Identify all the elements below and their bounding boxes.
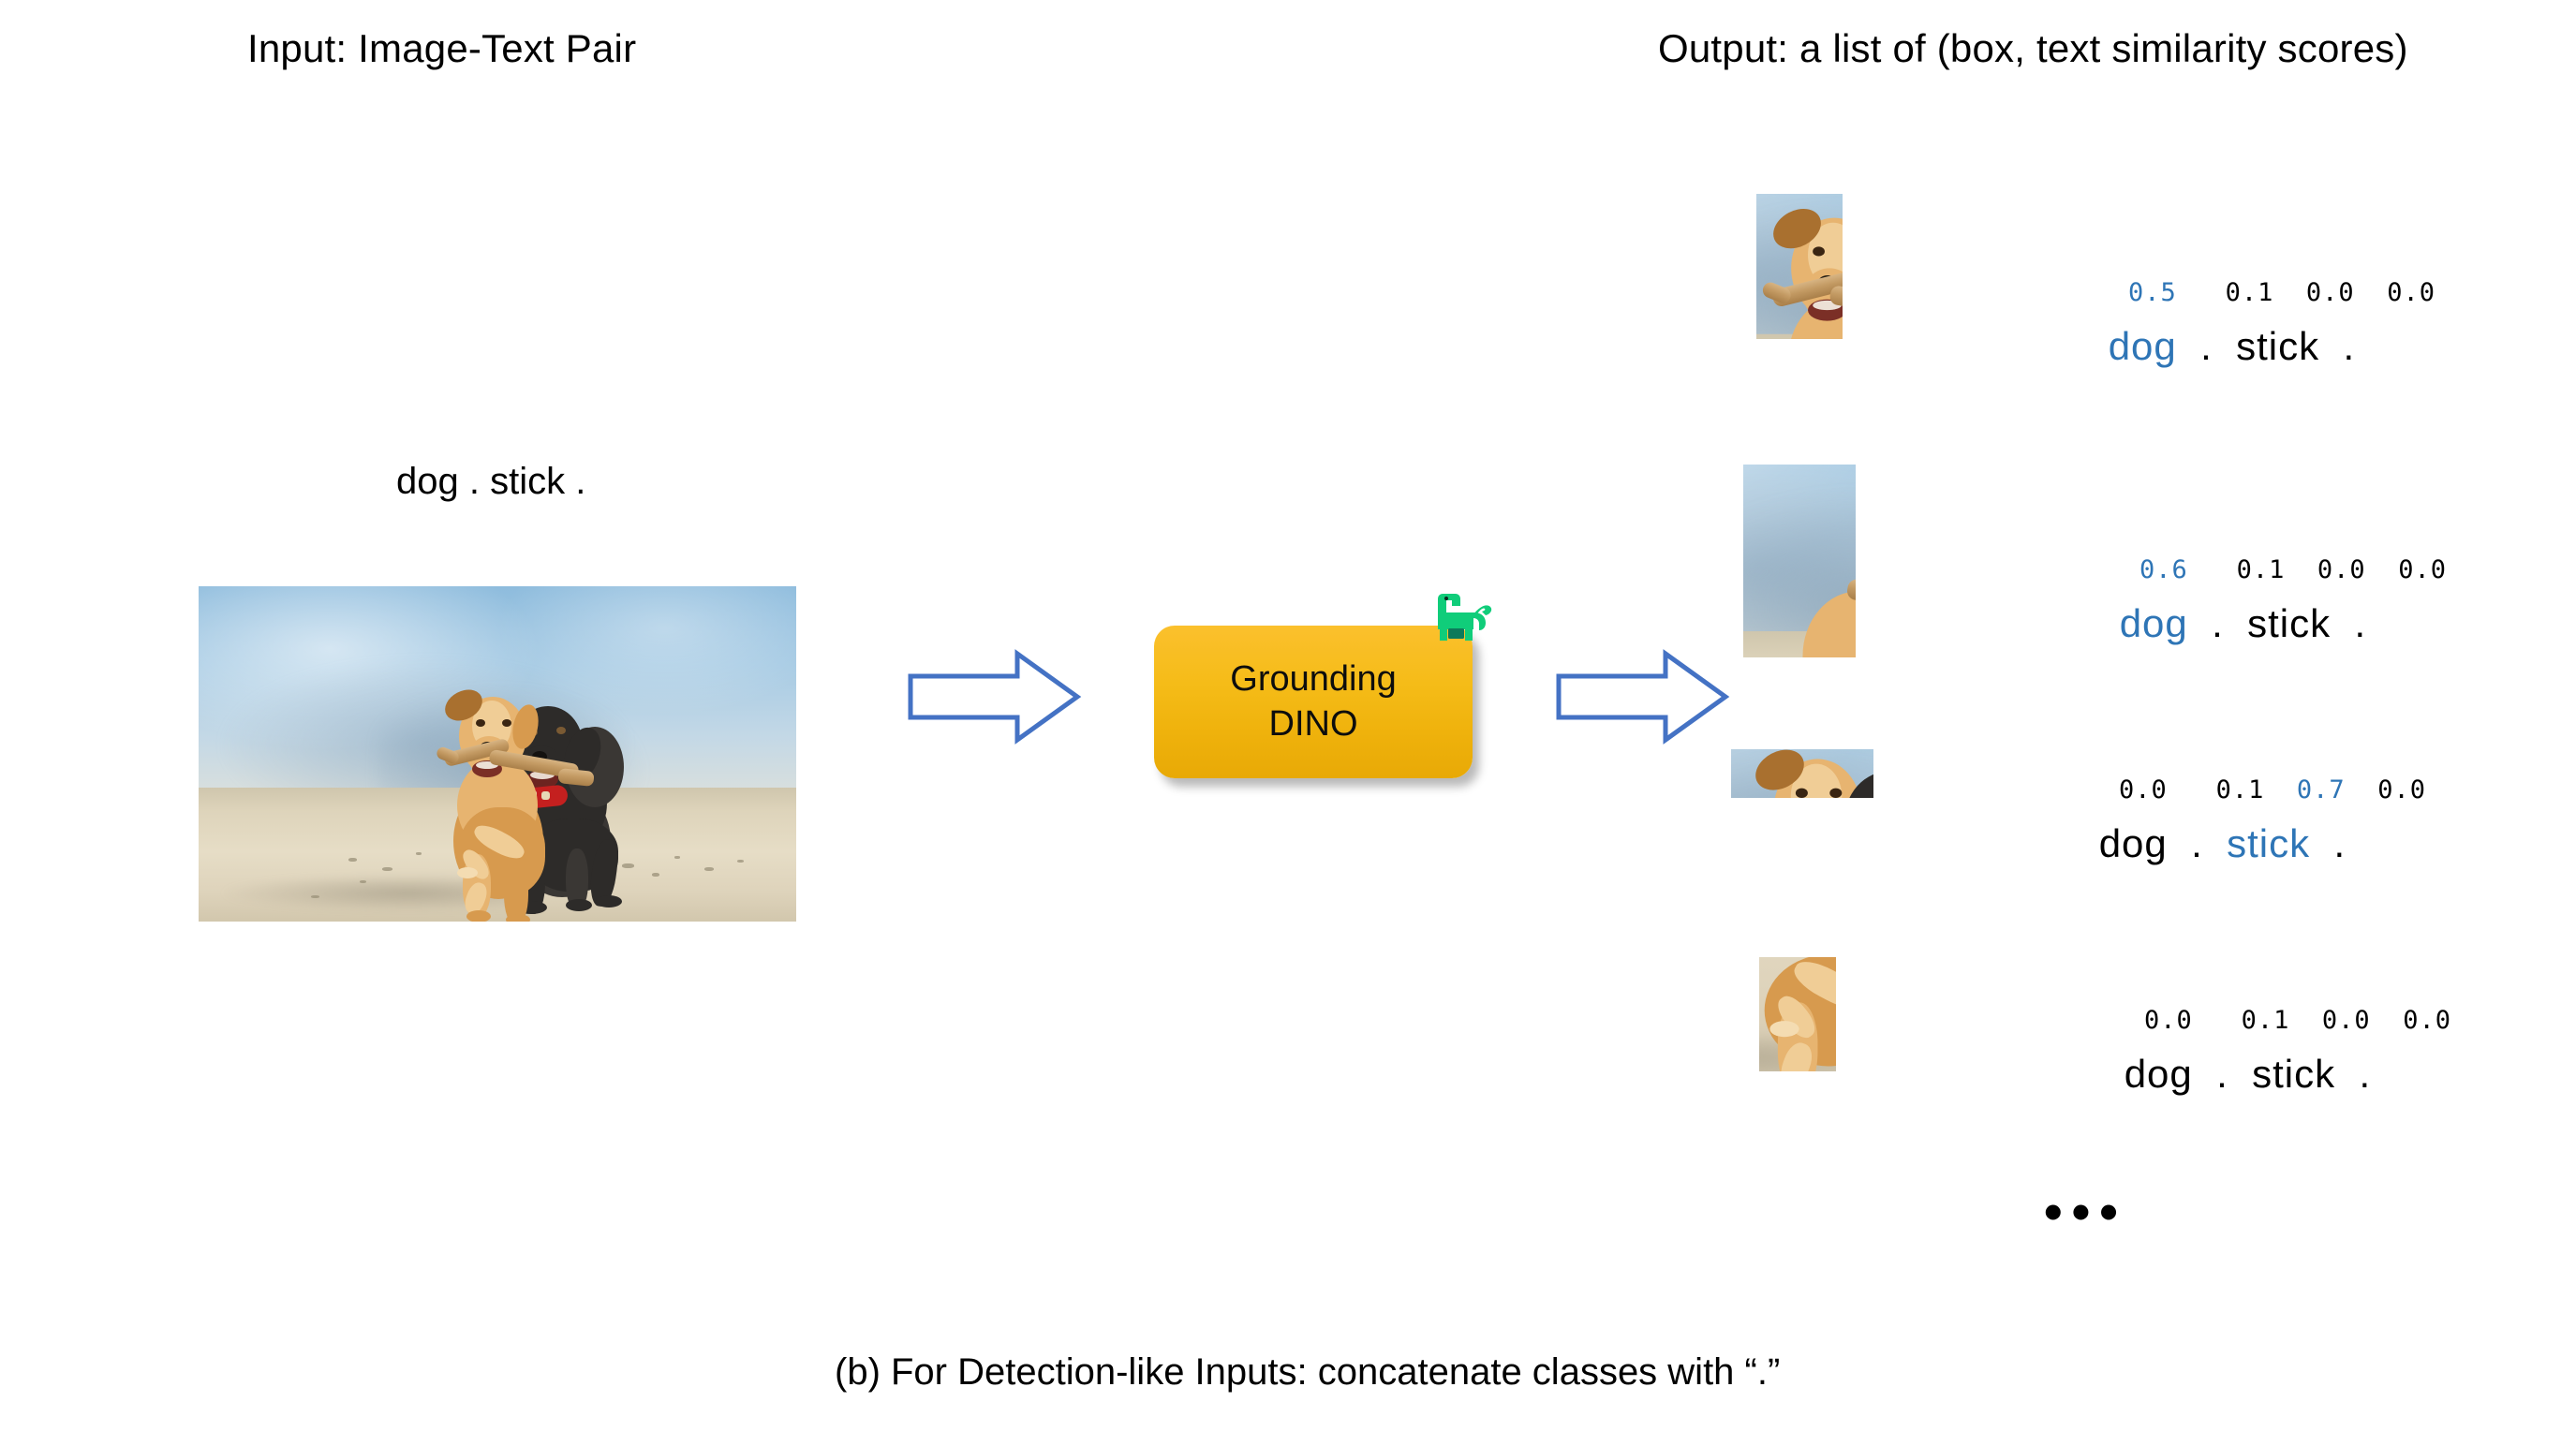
token-text: . bbox=[2354, 601, 2366, 645]
token-text: dog bbox=[2124, 1052, 2193, 1096]
token-text: . bbox=[2212, 601, 2224, 645]
output-crop-1[interactable] bbox=[1756, 194, 1843, 339]
score-value: 0.0 bbox=[2387, 278, 2435, 307]
token-text: stick bbox=[2227, 821, 2310, 865]
token-text: . bbox=[2359, 1052, 2371, 1096]
score-value: 0.0 bbox=[2398, 555, 2447, 584]
dinosaur-icon bbox=[1431, 588, 1493, 648]
output-more-ellipsis: ••• bbox=[2044, 1186, 2127, 1238]
input-column-title: Input: Image-Text Pair bbox=[247, 26, 636, 71]
token-text: stick bbox=[2236, 324, 2319, 368]
arrow-input-to-model bbox=[905, 648, 1083, 745]
token-text: . bbox=[2191, 821, 2203, 865]
input-text-prompt: dog . stick . bbox=[396, 461, 585, 503]
token-text: dog bbox=[2109, 324, 2177, 368]
token-text: . bbox=[2200, 324, 2213, 368]
output-tokens-4: dog . stick . bbox=[2077, 1007, 2371, 1142]
output-crop-2[interactable] bbox=[1743, 465, 1856, 657]
input-image bbox=[199, 586, 796, 922]
output-crop-3[interactable] bbox=[1731, 749, 1873, 798]
token-text: stick bbox=[2252, 1052, 2335, 1096]
figure-caption: (b) For Detection-like Inputs: concatena… bbox=[835, 1351, 1780, 1394]
output-column-title: Output: a list of (box, text similarity … bbox=[1658, 26, 2408, 71]
score-value: 0.0 bbox=[2377, 775, 2426, 804]
model-name-line1: Grounding bbox=[1230, 657, 1396, 701]
token-text: . bbox=[2343, 324, 2355, 368]
output-crop-4[interactable] bbox=[1759, 957, 1836, 1071]
output-tokens-3: dog . stick . bbox=[2051, 776, 2346, 911]
beach-dogs-photo bbox=[199, 586, 796, 922]
token-text: dog bbox=[2120, 601, 2188, 645]
model-name-line2: DINO bbox=[1269, 702, 1358, 746]
token-text: . bbox=[2333, 821, 2346, 865]
arrow-model-to-output bbox=[1553, 648, 1731, 745]
output-tokens-1: dog . stick . bbox=[2061, 279, 2355, 414]
token-text: dog bbox=[2099, 821, 2168, 865]
model-box[interactable]: Grounding DINO bbox=[1154, 626, 1473, 778]
figure-canvas: Input: Image-Text Pair Output: a list of… bbox=[0, 0, 2576, 1446]
score-value: 0.0 bbox=[2403, 1006, 2451, 1035]
token-text: . bbox=[2216, 1052, 2228, 1096]
token-text: stick bbox=[2247, 601, 2331, 645]
output-tokens-2: dog . stick . bbox=[2072, 556, 2366, 691]
